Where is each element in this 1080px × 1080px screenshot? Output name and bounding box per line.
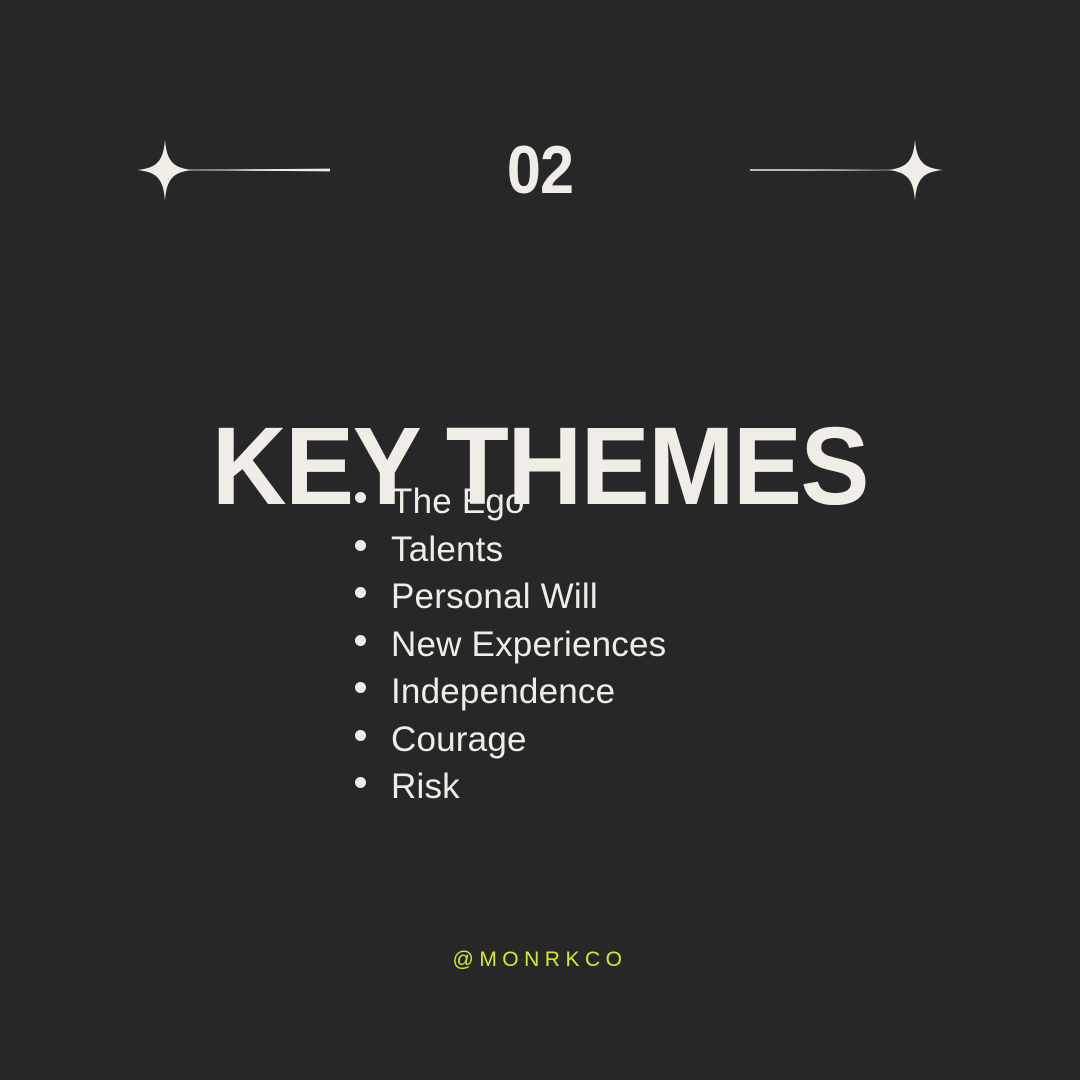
bullet-dot-icon bbox=[355, 587, 366, 598]
sparkle-star-right-icon bbox=[740, 120, 950, 220]
list-item-label: Personal Will bbox=[391, 573, 598, 621]
list-item-label: Courage bbox=[391, 716, 527, 764]
list-item: Personal Will bbox=[355, 573, 666, 621]
list-item-label: New Experiences bbox=[391, 621, 666, 669]
sparkle-star-left-icon bbox=[130, 120, 340, 220]
list-item: Independence bbox=[355, 668, 666, 716]
bullet-dot-icon bbox=[355, 540, 366, 551]
list-item: New Experiences bbox=[355, 621, 666, 669]
social-handle: @MONRKCO bbox=[0, 947, 1080, 973]
bullet-dot-icon bbox=[355, 682, 366, 693]
bullet-dot-icon bbox=[355, 635, 366, 646]
list-item-label: The Ego bbox=[391, 478, 525, 526]
header-ornament-row: 02 bbox=[0, 110, 1080, 230]
slide-canvas: 02 KEY THEMES The Ego Talents Personal W… bbox=[0, 0, 1080, 1080]
section-number: 02 bbox=[360, 136, 720, 204]
list-item: Talents bbox=[355, 526, 666, 574]
list-item: Risk bbox=[355, 763, 666, 811]
list-item: The Ego bbox=[355, 478, 666, 526]
bullet-dot-icon bbox=[355, 730, 366, 741]
bullet-dot-icon bbox=[355, 777, 366, 788]
list-item: Courage bbox=[355, 716, 666, 764]
list-item-label: Risk bbox=[391, 763, 460, 811]
list-item-label: Independence bbox=[391, 668, 615, 716]
bullet-dot-icon bbox=[355, 492, 366, 503]
list-item-label: Talents bbox=[391, 526, 503, 574]
key-themes-list: The Ego Talents Personal Will New Experi… bbox=[355, 478, 666, 811]
